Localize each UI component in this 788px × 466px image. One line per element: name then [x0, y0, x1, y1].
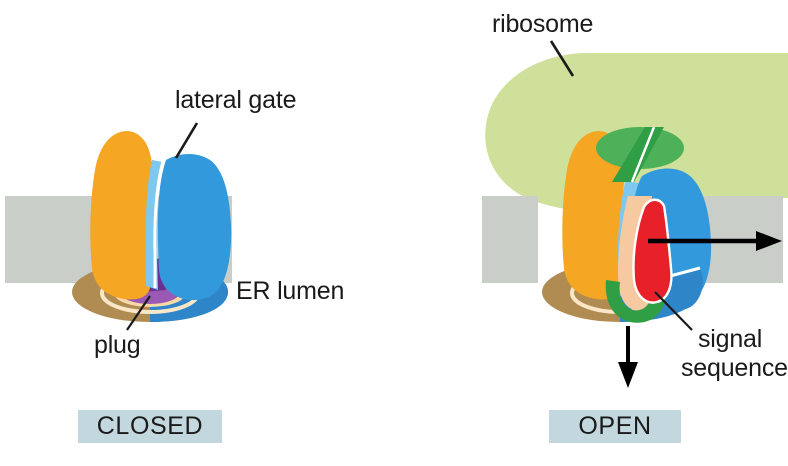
- label-ribosome: ribosome: [492, 10, 593, 39]
- orange-subunit-closed: [90, 131, 152, 299]
- blue-subunit-closed: [158, 154, 231, 300]
- label-lateral-gate: lateral gate: [175, 86, 296, 115]
- label-plug: plug: [94, 331, 140, 360]
- label-er-lumen: ER lumen: [236, 277, 344, 306]
- label-signal-sequence-line2: sequence: [681, 354, 788, 383]
- translocon-diagram: lateral gate ER lumen plug ribosome sign…: [0, 0, 788, 466]
- membrane-band-left-open: [482, 196, 538, 283]
- state-box-closed: CLOSED: [78, 410, 222, 443]
- lumen-translocation-arrow-head: [618, 362, 638, 388]
- diagram-canvas: [0, 0, 788, 466]
- state-box-open: OPEN: [549, 410, 681, 443]
- leader-line-lateral-gate: [176, 123, 197, 158]
- label-signal-sequence-line1: signal: [698, 325, 762, 354]
